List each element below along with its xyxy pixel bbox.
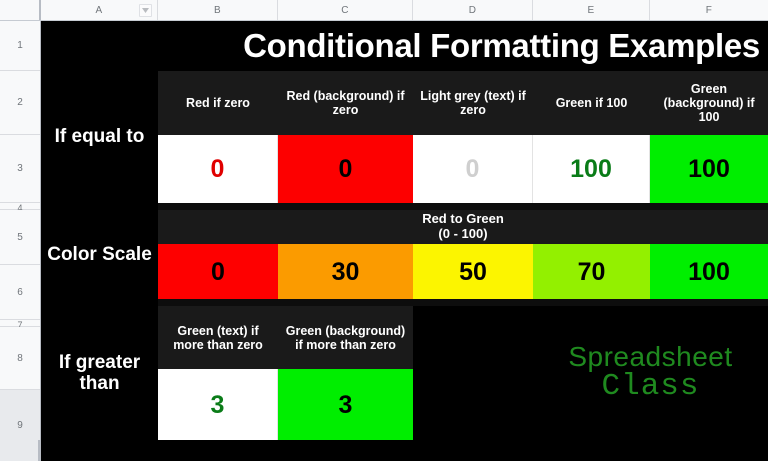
header-c8-text: Green (background) if more than zero xyxy=(281,324,410,352)
color-scale-title-line2: (0 - 100) xyxy=(438,227,487,242)
column-header-b[interactable]: B xyxy=(158,0,278,20)
header-c8: Green (background) if more than zero xyxy=(278,306,413,369)
section-label-if-greater-than-text: If greater than xyxy=(41,352,158,395)
row-header-3-label: 3 xyxy=(17,163,23,174)
value-f6[interactable]: 100 xyxy=(650,244,768,299)
value-c9-text: 3 xyxy=(339,391,353,419)
column-header-d-label: D xyxy=(469,5,477,16)
row-header-5-label: 5 xyxy=(17,232,23,243)
value-d6-text: 50 xyxy=(459,258,487,286)
page-title: Conditional Formatting Examples xyxy=(41,21,768,71)
header-d2: Light grey (text) if zero xyxy=(413,71,533,135)
spreadsheet-class-watermark: Spreadsheet Class xyxy=(533,306,768,440)
value-e3-text: 100 xyxy=(570,155,612,183)
value-d3[interactable]: 0 xyxy=(413,135,533,203)
row-header-8[interactable]: 8 xyxy=(0,327,40,390)
filter-dropdown-icon[interactable] xyxy=(139,4,152,17)
watermark-line1: Spreadsheet xyxy=(568,343,732,371)
section-label-color-scale: Color Scale xyxy=(41,210,158,299)
row-header-2-label: 2 xyxy=(17,97,23,108)
row-header-strip: 1 2 3 4 5 6 7 8 9 xyxy=(0,21,41,461)
value-d3-text: 0 xyxy=(466,155,480,183)
section-label-if-greater-than: If greater than xyxy=(41,306,158,440)
row-header-1[interactable]: 1 xyxy=(0,21,40,71)
section-label-if-equal-to: If equal to xyxy=(41,71,158,203)
column-header-e[interactable]: E xyxy=(533,0,650,20)
value-c6[interactable]: 30 xyxy=(278,244,413,299)
column-header-f[interactable]: F xyxy=(650,0,768,20)
value-b6[interactable]: 0 xyxy=(158,244,278,299)
value-e6[interactable]: 70 xyxy=(533,244,650,299)
spacer-row-7-a xyxy=(41,299,158,306)
row-header-6[interactable]: 6 xyxy=(0,265,40,320)
header-e2: Green if 100 xyxy=(533,71,650,135)
empty-d9[interactable] xyxy=(413,369,533,440)
value-b9[interactable]: 3 xyxy=(158,369,278,440)
row-header-filler xyxy=(0,440,40,461)
value-c3-text: 0 xyxy=(339,155,353,183)
spacer-row-4 xyxy=(158,203,768,210)
value-b9-text: 3 xyxy=(211,391,225,419)
row-header-6-label: 6 xyxy=(17,287,23,298)
select-all-corner[interactable] xyxy=(0,0,41,20)
row-header-8-label: 8 xyxy=(17,353,23,364)
row-header-4[interactable]: 4 xyxy=(0,203,40,210)
row-header-3[interactable]: 3 xyxy=(0,135,40,203)
header-c2: Red (background) if zero xyxy=(278,71,413,135)
section-label-color-scale-text: Color Scale xyxy=(47,244,152,265)
header-e2-text: Green if 100 xyxy=(556,96,628,110)
column-header-c[interactable]: C xyxy=(278,0,413,20)
spreadsheet-canvas: A B C D E F 1 2 3 4 xyxy=(0,0,768,461)
spacer-row-7 xyxy=(158,299,768,306)
value-d6[interactable]: 50 xyxy=(413,244,533,299)
header-f2-text: Green (background) if 100 xyxy=(653,82,765,124)
page-title-text: Conditional Formatting Examples xyxy=(243,28,760,65)
value-f3-text: 100 xyxy=(688,155,730,183)
header-f2: Green (background) if 100 xyxy=(650,71,768,135)
value-f6-text: 100 xyxy=(688,258,730,286)
value-c6-text: 30 xyxy=(332,258,360,286)
bottom-filler xyxy=(41,440,768,461)
value-e6-text: 70 xyxy=(578,258,606,286)
header-c2-text: Red (background) if zero xyxy=(281,89,410,117)
header-b2-text: Red if zero xyxy=(186,96,250,110)
column-header-f-label: F xyxy=(706,5,712,16)
column-header-strip: A B C D E F xyxy=(0,0,768,21)
value-c9[interactable]: 3 xyxy=(278,369,413,440)
watermark-line2: Class xyxy=(601,371,699,404)
value-b3-text: 0 xyxy=(211,155,225,183)
row-header-1-label: 1 xyxy=(17,40,23,51)
value-c3[interactable]: 0 xyxy=(278,135,413,203)
value-e3[interactable]: 100 xyxy=(533,135,650,203)
header-b8: Green (text) if more than zero xyxy=(158,306,278,369)
value-b3[interactable]: 0 xyxy=(158,135,278,203)
row-header-5[interactable]: 5 xyxy=(0,210,40,265)
header-b8-text: Green (text) if more than zero xyxy=(161,324,275,352)
column-header-b-label: B xyxy=(214,5,221,16)
value-b6-text: 0 xyxy=(211,258,225,286)
column-header-e-label: E xyxy=(588,5,595,16)
color-scale-title-line1: Red to Green xyxy=(422,212,504,227)
row-header-2[interactable]: 2 xyxy=(0,71,40,135)
column-header-c-label: C xyxy=(341,5,349,16)
value-f3[interactable]: 100 xyxy=(650,135,768,203)
empty-d8[interactable] xyxy=(413,306,533,369)
spacer-row-4-a xyxy=(41,203,158,210)
color-scale-title: Red to Green (0 - 100) xyxy=(158,210,768,244)
column-header-a[interactable]: A xyxy=(41,0,158,20)
header-b2: Red if zero xyxy=(158,71,278,135)
column-header-a-label: A xyxy=(96,5,103,16)
header-d2-text: Light grey (text) if zero xyxy=(416,89,530,117)
row-header-7[interactable]: 7 xyxy=(0,320,40,327)
column-header-d[interactable]: D xyxy=(413,0,533,20)
row-header-9-label: 9 xyxy=(17,420,23,431)
section-label-if-equal-to-text: If equal to xyxy=(55,126,145,147)
